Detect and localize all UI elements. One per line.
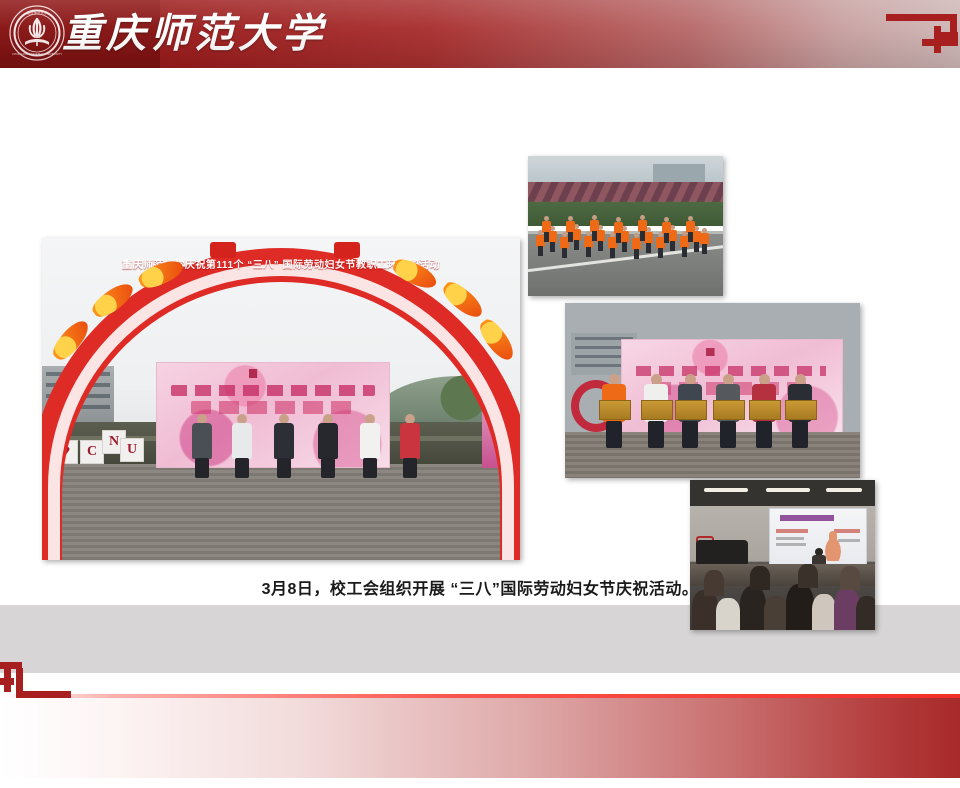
slide-text <box>776 529 808 533</box>
award-plaque <box>713 400 745 420</box>
backdrop-university-logo <box>706 348 758 356</box>
awardee <box>643 374 669 448</box>
bottom-band <box>0 673 960 788</box>
arch-topper <box>334 242 360 258</box>
bottom-footer-strip <box>0 778 960 788</box>
award-plaque <box>599 400 631 420</box>
cqnu-seal-logo: 重庆师范大学 CHONGQING NORMAL UNIVERSITY <box>8 4 66 62</box>
awardee <box>751 374 777 448</box>
svg-text:CHONGQING NORMAL UNIVERSITY: CHONGQING NORMAL UNIVERSITY <box>12 52 62 56</box>
ceiling-light <box>826 488 862 492</box>
ceiling-light <box>766 488 810 492</box>
award-plaque <box>785 400 817 420</box>
bottom-gradient-fill <box>0 698 960 778</box>
ceiling <box>690 480 875 506</box>
slide-title-bar <box>780 515 834 521</box>
chinese-fret-corner-top-right <box>860 8 960 53</box>
awardee <box>715 374 741 448</box>
award-plaque <box>675 400 707 420</box>
university-name: 重庆师范大学 <box>62 3 332 65</box>
svg-text:重庆师范大学: 重庆师范大学 <box>27 10 48 15</box>
awardee <box>787 374 813 448</box>
awardee <box>601 374 627 448</box>
page-header: 重庆师范大学 CHONGQING NORMAL UNIVERSITY 重庆师范大… <box>0 0 960 68</box>
runner-crowd <box>528 214 723 262</box>
chinese-fret-corner-bottom-left <box>0 658 100 704</box>
slide-text <box>776 543 806 546</box>
awardee <box>677 374 703 448</box>
photo-fun-run <box>528 156 723 296</box>
award-plaque <box>749 400 781 420</box>
arch-topper <box>210 242 236 258</box>
content-panel: ♥ C N U 重庆师范大学庆祝第111个 “三八” 国际劳动妇女节教职工环校园… <box>0 68 960 605</box>
slide-caption: 3月8日，校工会组织开展 “三八”国际劳动妇女节庆祝活动。 <box>0 573 960 607</box>
photo-award-ceremony <box>565 303 860 478</box>
slide-text <box>776 537 804 540</box>
podium-chairs <box>696 540 748 566</box>
photo-main-arch-ceremony: ♥ C N U 重庆师范大学庆祝第111个 “三八” 国际劳动妇女节教职工环校园… <box>42 238 520 560</box>
slide-body: ♥ C N U 重庆师范大学庆祝第111个 “三八” 国际劳动妇女节教职工环校园… <box>0 68 960 720</box>
ceiling-light <box>704 488 748 492</box>
photo-health-lecture <box>690 480 875 630</box>
award-plaque <box>641 400 673 420</box>
